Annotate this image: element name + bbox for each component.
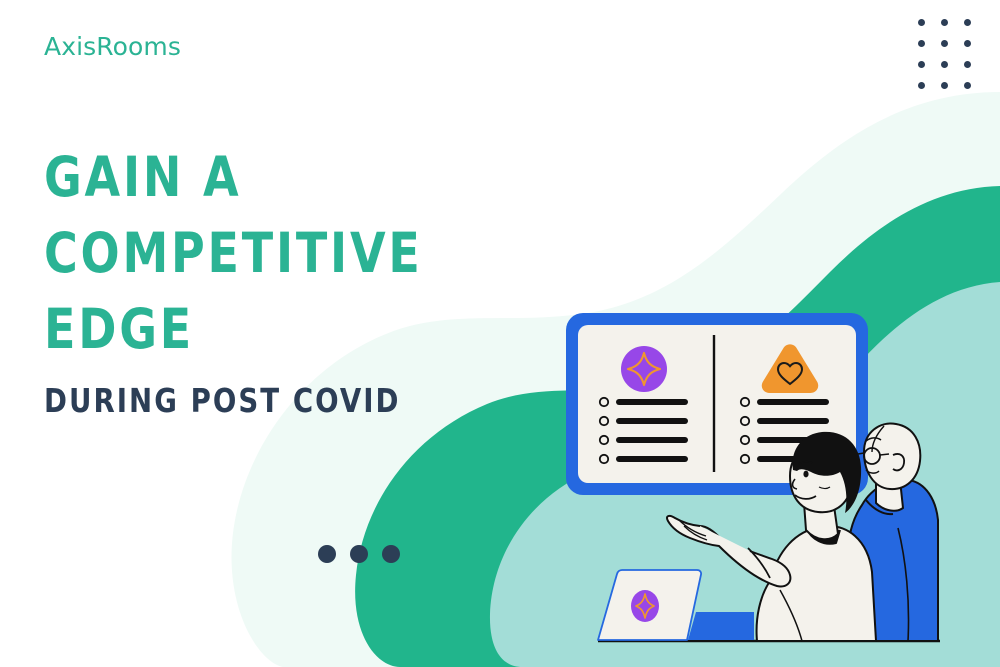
accent-dot xyxy=(318,545,336,563)
grid-dot xyxy=(941,19,948,26)
grid-dot xyxy=(918,82,925,89)
checklist-card xyxy=(566,313,868,495)
grid-dot xyxy=(964,61,971,68)
person-with-glasses xyxy=(848,424,938,641)
grid-dot xyxy=(941,40,948,47)
sparkle-badge xyxy=(621,346,667,392)
grid-dot xyxy=(964,40,971,47)
marketing-banner: AxisRooms Gain a Competitive Edge During… xyxy=(0,0,1000,667)
list-item xyxy=(600,455,688,463)
list-item xyxy=(741,455,829,463)
teal-green-blob xyxy=(355,186,1000,667)
brand-logo[interactable]: AxisRooms xyxy=(44,32,181,61)
page-subtitle: During Post Covid xyxy=(44,381,416,421)
page-title: Gain a Competitive Edge xyxy=(44,139,416,367)
list-item xyxy=(741,417,829,425)
card-left-list xyxy=(600,398,688,463)
headline-block: Gain a Competitive Edge During Post Covi… xyxy=(44,139,444,421)
accent-dot xyxy=(350,545,368,563)
person-pointing xyxy=(667,432,876,641)
grid-dot xyxy=(964,19,971,26)
heart-badge xyxy=(762,344,818,393)
grid-dot xyxy=(941,82,948,89)
grid-dot xyxy=(918,61,925,68)
list-item xyxy=(741,398,829,406)
accent-dot xyxy=(382,545,400,563)
light-mint-blob xyxy=(490,282,1000,667)
list-item xyxy=(741,436,829,444)
three-dots-decoration xyxy=(318,545,400,563)
grid-dot xyxy=(918,19,925,26)
laptop xyxy=(598,570,754,640)
grid-dot xyxy=(964,82,971,89)
list-item xyxy=(600,436,688,444)
list-item xyxy=(600,398,688,406)
card-right-list xyxy=(741,398,829,463)
grid-dot xyxy=(941,61,948,68)
dot-grid-decoration xyxy=(916,12,972,96)
list-item xyxy=(600,417,688,425)
grid-dot xyxy=(918,40,925,47)
sparkle-sticker xyxy=(631,590,659,622)
